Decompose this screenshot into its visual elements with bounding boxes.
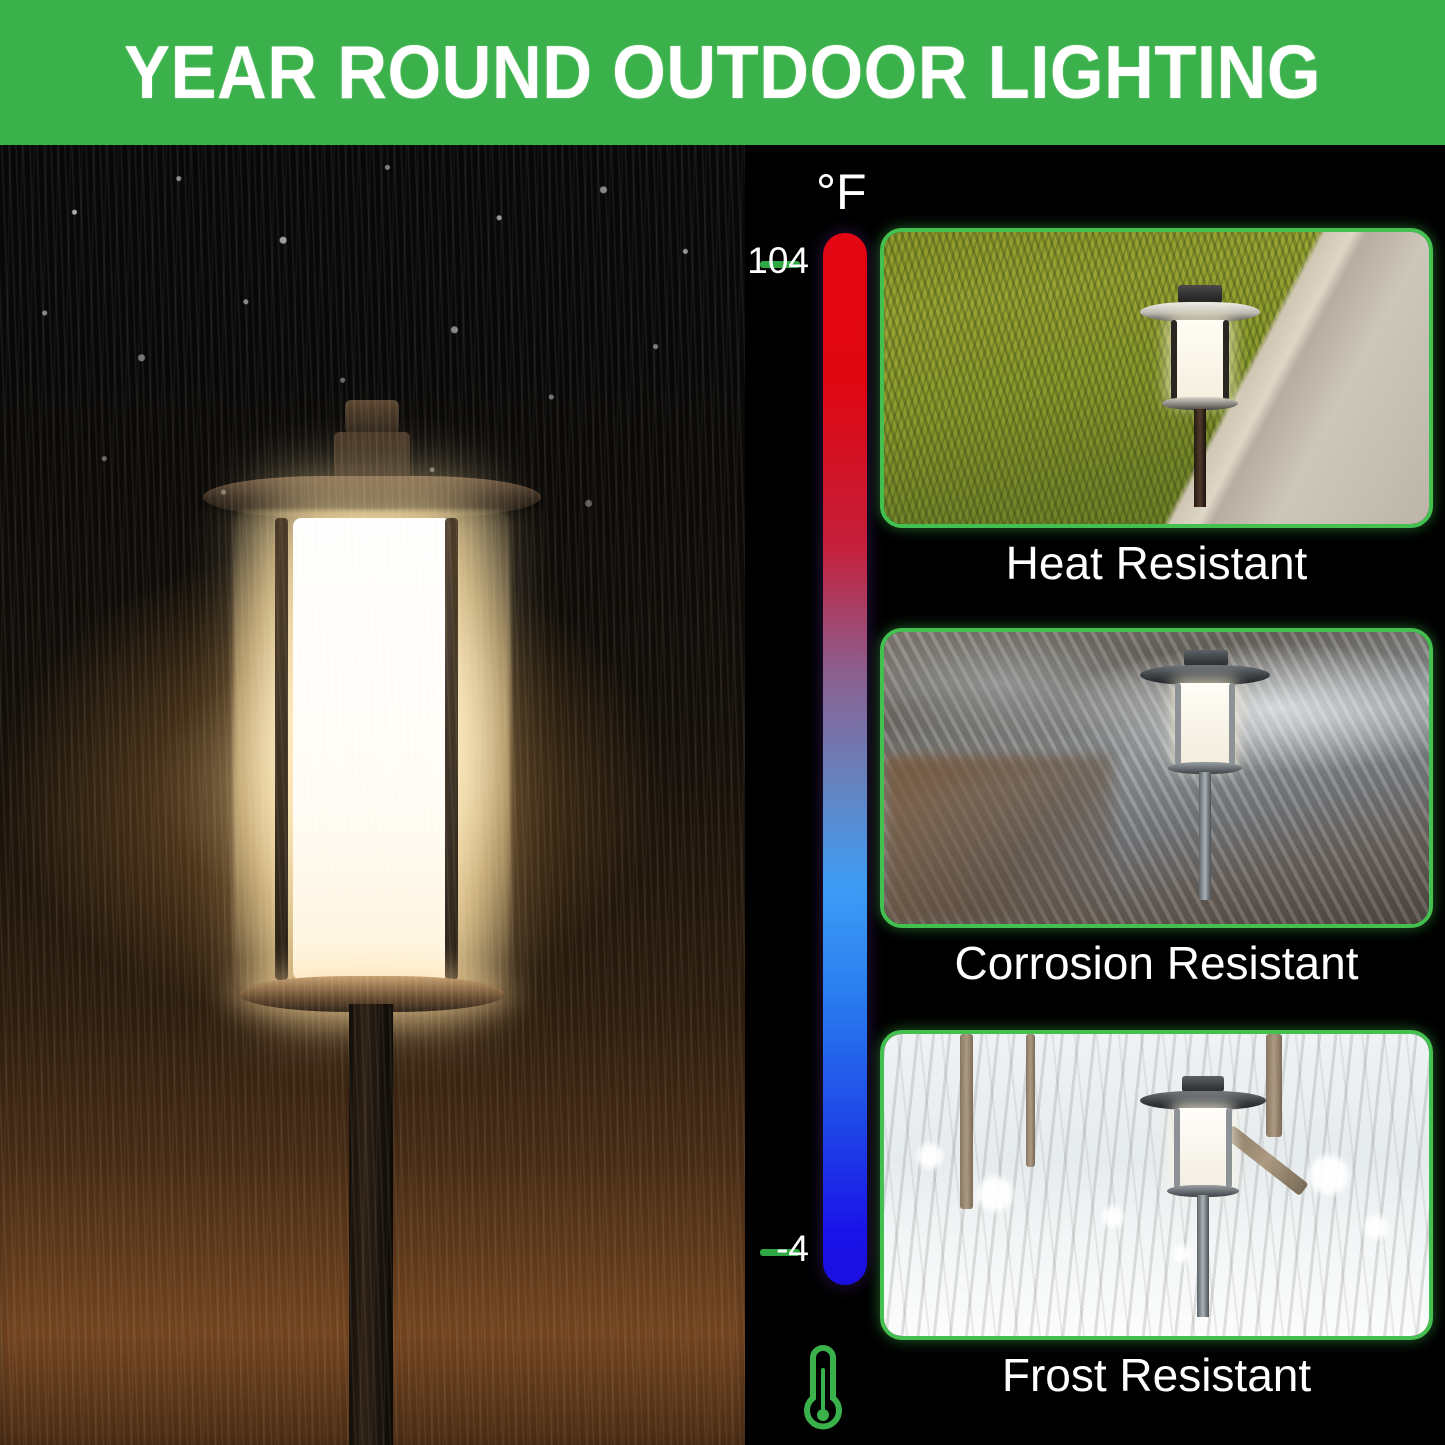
hero-image-rain-test: IP65 Waterproof xyxy=(0,145,745,1445)
page-title: YEAR ROUND OUTDOOR LIGHTING xyxy=(124,35,1321,110)
pathway-light-product xyxy=(1140,650,1270,913)
lamp-pole xyxy=(1197,1195,1209,1317)
tree-trunk xyxy=(1266,1034,1282,1137)
lamp-pole xyxy=(1199,772,1211,900)
snowflake xyxy=(917,1143,943,1169)
scene-brown-soil xyxy=(884,755,1113,924)
lamp-diffuser xyxy=(1178,683,1232,765)
feature-photo-corrosion xyxy=(880,628,1433,928)
snowflake xyxy=(977,1176,1013,1212)
snowflake xyxy=(1309,1155,1349,1195)
feature-label-corrosion: Corrosion Resistant xyxy=(880,938,1433,989)
feature-card-frost[interactable]: Frost Resistant xyxy=(880,1030,1433,1401)
lamp-hat xyxy=(1140,665,1270,685)
lamp-pole xyxy=(1194,409,1206,507)
pathway-light-product xyxy=(1140,1076,1266,1330)
tree-trunk xyxy=(960,1034,973,1209)
tree-trunk xyxy=(1026,1034,1035,1167)
feature-label-frost: Frost Resistant xyxy=(880,1350,1433,1401)
lamp-slat xyxy=(1226,1108,1232,1188)
temperature-unit-label: °F xyxy=(816,167,867,217)
product-feature-infographic: YEAR ROUND OUTDOOR LIGHTING xyxy=(0,0,1445,1445)
water-droplets xyxy=(0,145,745,705)
pathway-light-product xyxy=(1140,285,1260,495)
lamp-hat xyxy=(1140,302,1260,322)
lamp-diffuser xyxy=(1177,1108,1229,1188)
temperature-gradient-bar xyxy=(823,233,867,1285)
lamp-slat xyxy=(1175,683,1181,765)
feature-card-list: Heat Resistant Corrosion Resistant xyxy=(880,145,1445,1445)
header-banner: YEAR ROUND OUTDOOR LIGHTING xyxy=(0,0,1445,145)
temperature-high-label: 104 xyxy=(743,242,809,279)
lamp-slat xyxy=(1174,1108,1180,1188)
feature-card-heat[interactable]: Heat Resistant xyxy=(880,228,1433,589)
snowflake xyxy=(1102,1206,1124,1228)
feature-photo-frost xyxy=(880,1030,1433,1340)
lamp-diffuser xyxy=(1173,320,1227,400)
thermometer-icon xyxy=(795,1340,851,1440)
lamp-slat xyxy=(1223,320,1229,400)
snowflake xyxy=(1364,1215,1388,1239)
lamp-slat xyxy=(1229,683,1235,765)
temperature-scale: °F 104 -4 xyxy=(748,145,878,1445)
lamp-finial xyxy=(1184,650,1228,666)
temperature-low-label: -4 xyxy=(762,1230,809,1267)
lamp-finial xyxy=(1178,285,1222,303)
feature-card-corrosion[interactable]: Corrosion Resistant xyxy=(880,628,1433,989)
lamp-finial xyxy=(1182,1076,1224,1092)
feature-label-heat: Heat Resistant xyxy=(880,538,1433,589)
feature-photo-heat xyxy=(880,228,1433,528)
lamp-slat xyxy=(1171,320,1177,400)
